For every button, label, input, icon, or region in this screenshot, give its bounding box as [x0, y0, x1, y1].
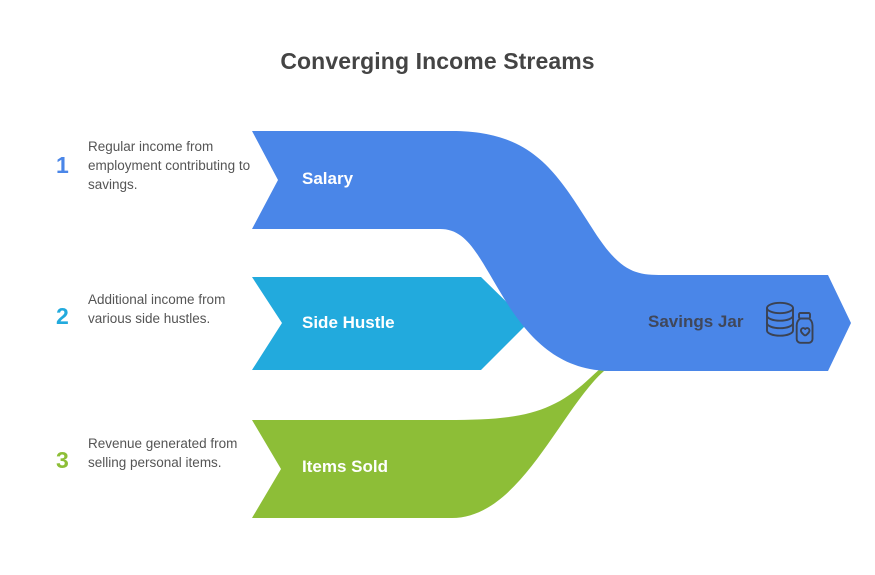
legend-number-2: 2	[56, 290, 88, 328]
destination-label-savings-jar: Savings Jar	[648, 312, 743, 332]
legend-number-1: 1	[56, 137, 88, 177]
legend-description-3: Revenue generated from selling personal …	[88, 434, 271, 472]
coins-and-savings-jar-icon	[762, 299, 818, 347]
converging-streams-diagram	[0, 0, 875, 575]
stream-label-items-sold: Items Sold	[302, 457, 388, 477]
legend-item-2[interactable]: 2 Additional income from various side hu…	[56, 290, 271, 328]
legend-description-1: Regular income from employment contribut…	[88, 137, 271, 194]
legend-item-3[interactable]: 3 Revenue generated from selling persona…	[56, 434, 271, 472]
stream-label-salary: Salary	[302, 169, 353, 189]
legend-number-3: 3	[56, 434, 88, 472]
legend-item-1[interactable]: 1 Regular income from employment contrib…	[56, 137, 271, 194]
legend-description-2: Additional income from various side hust…	[88, 290, 271, 328]
infographic-canvas: Converging Income Streams Salary Side Hu…	[0, 0, 875, 575]
stream-label-side-hustle: Side Hustle	[302, 313, 395, 333]
